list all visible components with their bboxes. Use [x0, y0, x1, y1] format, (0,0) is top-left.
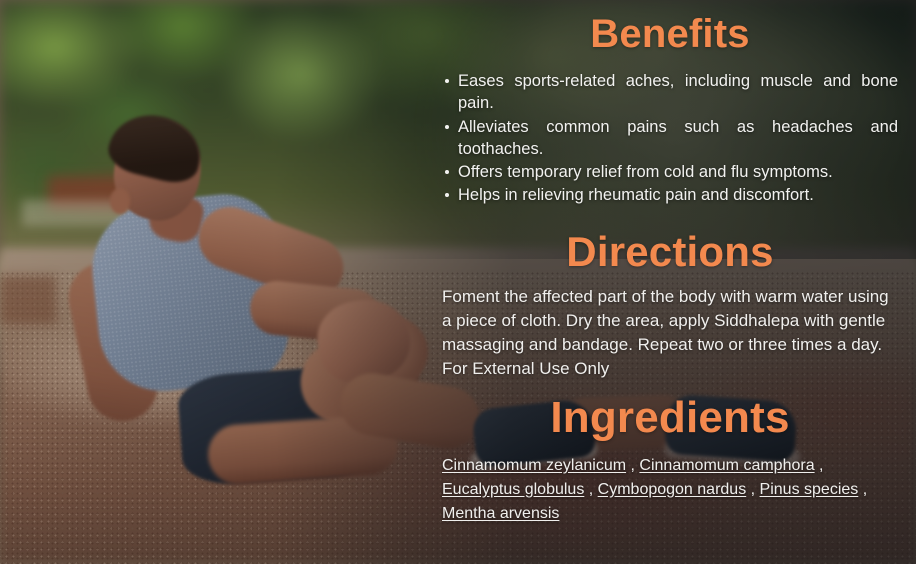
- ingredient-name: Cinnamomum zeylanicum: [442, 457, 626, 474]
- ingredient-separator: ,: [746, 481, 759, 498]
- directions-body: Foment the affected part of the body wit…: [436, 285, 904, 382]
- benefits-heading: Benefits: [436, 14, 904, 54]
- ingredient-separator: ,: [858, 481, 867, 498]
- list-item: Offers temporary relief from cold and fl…: [458, 161, 898, 183]
- list-item: Eases sports-related aches, including mu…: [458, 70, 898, 115]
- text-content-column: Benefits Eases sports-related aches, inc…: [430, 0, 916, 564]
- ingredients-heading: Ingredients: [436, 396, 904, 440]
- ingredients-list: Cinnamomum zeylanicum , Cinnamomum camph…: [436, 454, 904, 526]
- ingredient-name: Cymbopogon nardus: [598, 481, 747, 498]
- ingredient-name: Cinnamomum camphora: [639, 457, 814, 474]
- ingredient-separator: ,: [584, 481, 597, 498]
- list-item: Alleviates common pains such as headache…: [458, 116, 898, 161]
- ingredient-name: Eucalyptus globulus: [442, 481, 584, 498]
- ingredient-separator: ,: [626, 457, 639, 474]
- list-item: Helps in relieving rheumatic pain and di…: [458, 184, 898, 206]
- product-info-slide: Benefits Eases sports-related aches, inc…: [0, 0, 916, 564]
- ingredient-name: Pinus species: [760, 481, 859, 498]
- benefits-list: Eases sports-related aches, including mu…: [436, 70, 904, 207]
- ingredient-name: Mentha arvensis: [442, 505, 559, 522]
- directions-heading: Directions: [436, 231, 904, 273]
- ingredient-separator: ,: [815, 457, 824, 474]
